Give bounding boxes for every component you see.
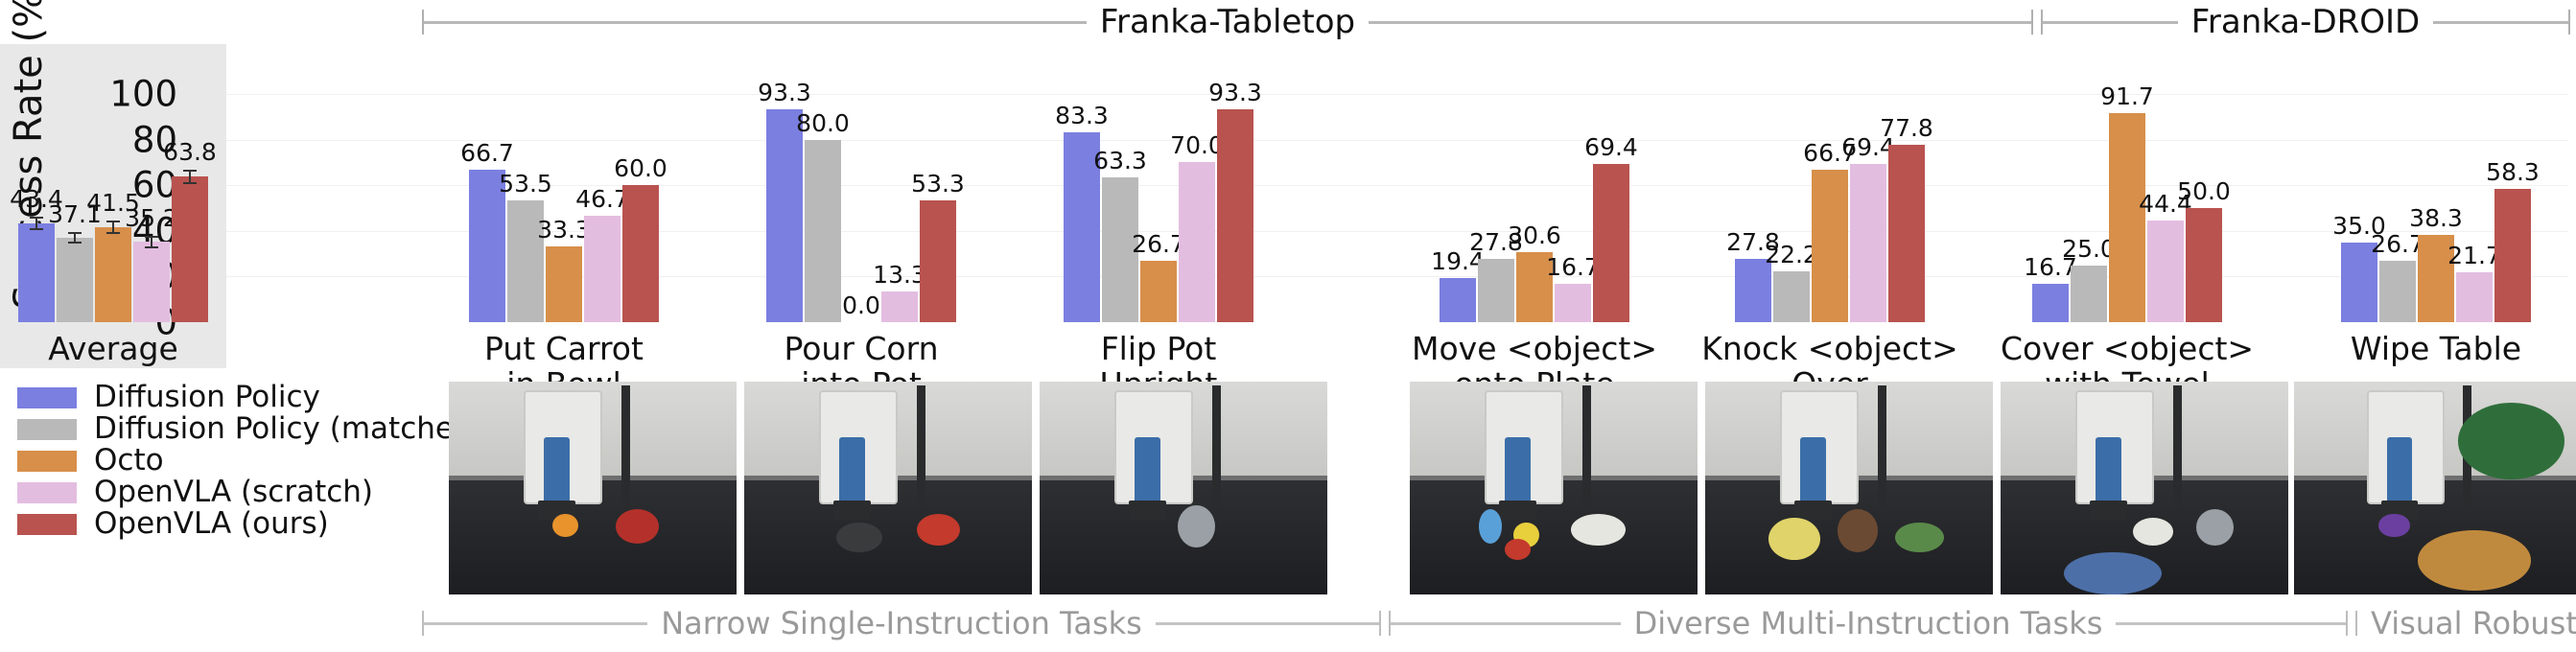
bar-value-label: 35.2	[125, 206, 178, 230]
bar-openvla-ours-[interactable]: 50.0	[2186, 94, 2222, 322]
bar-group-label-line: Pour Corn	[784, 332, 938, 367]
bar-rect	[2147, 221, 2184, 322]
bar-openvla-ours-[interactable]: 63.8	[172, 94, 208, 322]
scene-object	[2418, 530, 2531, 590]
caption-line-left	[1391, 622, 1621, 625]
bar-group-bars: 27.822.266.769.477.8	[1735, 94, 1925, 322]
bar-value-label: 26.7	[1132, 232, 1185, 256]
bar-group-label-line: Knock <object>	[1701, 332, 1957, 367]
bar-rect	[622, 185, 659, 322]
caption-cap-right	[1379, 611, 1381, 636]
pour-corn-into-pot-photo	[744, 382, 1032, 594]
error-bar	[189, 170, 191, 184]
bottom-caption-visual-robustness: Visual Robustness	[2355, 594, 2570, 652]
top-bracket-franka-tabletop: Franka-Tabletop	[422, 0, 2033, 44]
photo-content	[2294, 382, 2576, 594]
scene-robot-gripper	[1129, 501, 1166, 520]
scene-object	[1479, 509, 1502, 544]
bar-rect	[1593, 164, 1629, 322]
bar-diffusion-policy[interactable]: 66.7	[469, 94, 505, 322]
bar-value-label: 50.0	[2177, 179, 2231, 203]
scene-object	[2133, 518, 2173, 546]
caption-line-left	[424, 622, 647, 625]
bar-openvla-scratch-[interactable]: 44.4	[2147, 94, 2184, 322]
scene-robot-arm	[2096, 437, 2121, 509]
bar-rect	[766, 109, 803, 322]
bar-rect	[1850, 164, 1886, 322]
caption-label: Diverse Multi-Instruction Tasks	[1621, 608, 2117, 639]
bar-rect	[1179, 162, 1215, 322]
bar-openvla-scratch-[interactable]: 16.7	[1555, 94, 1591, 322]
bottom-caption-row: Narrow Single-Instruction TasksDiverse M…	[0, 594, 2576, 652]
bar-rect	[1555, 284, 1591, 322]
bar-octo[interactable]: 38.3	[2418, 94, 2454, 322]
bracket-line-left	[2043, 21, 2178, 24]
bar-value-label: 53.3	[911, 172, 965, 196]
scene-robot-arm	[1800, 437, 1826, 509]
scene-camera-post	[621, 385, 630, 509]
bar-group-flip-pot-upright: 83.363.326.770.093.3Flip PotUpright	[1064, 94, 1253, 322]
caption-label: Narrow Single-Instruction Tasks	[647, 608, 1156, 639]
scene-object	[2196, 509, 2234, 546]
scene-object	[2378, 514, 2409, 537]
bar-rect	[172, 176, 208, 322]
bottom-caption-narrow-single-instruction-tasks: Narrow Single-Instruction Tasks	[422, 594, 1381, 652]
bar-diffusion-policy[interactable]: 83.3	[1064, 94, 1100, 322]
bar-diffusion-policy[interactable]: 19.4	[1440, 94, 1476, 322]
bar-openvla-ours-[interactable]: 93.3	[1217, 94, 1253, 322]
bar-openvla-scratch-[interactable]: 46.7	[584, 94, 621, 322]
bar-value-label: 66.7	[460, 141, 514, 165]
bar-value-label: 53.5	[499, 172, 552, 196]
bar-openvla-scratch-[interactable]: 70.0	[1179, 94, 1215, 322]
flip-pot-upright-photo	[1040, 382, 1327, 594]
bar-group-label-line: Flip Pot	[1100, 332, 1218, 367]
bar-rect	[546, 246, 582, 322]
top-bracket-franka-droid: Franka-DROID	[2041, 0, 2570, 44]
bracket-line-right	[2433, 21, 2568, 24]
bar-group-bars: 16.725.091.744.450.0	[2032, 94, 2222, 322]
scene-object	[1895, 523, 1944, 552]
bar-openvla-scratch-[interactable]: 35.2	[133, 94, 170, 322]
bracket-cap-right	[2568, 10, 2570, 35]
caption-line-right	[2116, 622, 2346, 625]
bar-rect	[1217, 109, 1253, 322]
scene-robot-arm	[839, 437, 865, 509]
bar-diffusion-policy-matched-[interactable]: 63.3	[1102, 94, 1138, 322]
scene-object	[1571, 514, 1626, 546]
move-object-onto-plate-photo	[1410, 382, 1698, 594]
bar-diffusion-policy[interactable]: 35.0	[2341, 94, 2377, 322]
bar-rect	[920, 200, 956, 322]
scene-camera-post	[2173, 385, 2182, 509]
bar-group-wipe-table: 35.026.738.321.758.3Wipe Table	[2341, 94, 2531, 322]
bar-value-label: 16.7	[1546, 255, 1600, 279]
scene-object	[836, 523, 882, 552]
bar-value-label: 80.0	[796, 111, 850, 135]
error-bar	[35, 217, 37, 230]
bar-group-label: Average	[48, 332, 178, 367]
bar-value-label: 60.0	[614, 156, 667, 180]
bar-rect	[1140, 261, 1177, 322]
photo-content	[449, 382, 737, 594]
photo-content	[1410, 382, 1698, 594]
scene-object	[1838, 509, 1878, 551]
bar-rect	[133, 242, 170, 322]
scene-robot-gripper	[833, 501, 871, 520]
bar-rect	[1773, 271, 1810, 322]
bar-value-label: 63.8	[163, 140, 217, 164]
bar-value-label: 93.3	[1208, 81, 1262, 105]
error-bar	[112, 221, 114, 234]
bar-rect	[57, 238, 93, 322]
bracket-label: Franka-DROID	[2178, 6, 2433, 38]
bar-diffusion-policy-matched-[interactable]: 27.8	[1478, 94, 1514, 322]
bar-value-label: 93.3	[758, 81, 811, 105]
bar-openvla-ours-[interactable]: 69.4	[1593, 94, 1629, 322]
bar-rect	[805, 140, 841, 322]
bar-value-label: 22.2	[1765, 243, 1818, 267]
bar-group-cover-object-with-towel: 16.725.091.744.450.0Cover <object>with T…	[2032, 94, 2222, 322]
scene-robot-gripper	[1794, 501, 1832, 520]
bar-group-label-line: Wipe Table	[2351, 332, 2521, 367]
photo-content	[2001, 382, 2288, 594]
caption-label: Visual Robustness	[2357, 608, 2576, 639]
bar-value-label: 91.7	[2100, 84, 2154, 108]
scene-object	[2064, 552, 2162, 594]
bar-group-move-object-onto-plate: 19.427.830.616.769.4Move <object>onto Pl…	[1440, 94, 1629, 322]
bar-diffusion-policy[interactable]: 27.8	[1735, 94, 1771, 322]
bar-group-bars: 19.427.830.616.769.4	[1440, 94, 1629, 322]
bracket-line-right	[1369, 21, 2031, 24]
bar-rect	[1478, 259, 1514, 322]
scene-robot-arm	[1135, 437, 1160, 509]
bar-diffusion-policy-matched-[interactable]: 22.2	[1773, 94, 1810, 322]
bar-octo[interactable]: 30.6	[1516, 94, 1553, 322]
bar-diffusion-policy-matched-[interactable]: 25.0	[2071, 94, 2107, 322]
bar-openvla-scratch-[interactable]: 13.3	[881, 94, 918, 322]
bar-value-label: 21.7	[2447, 244, 2501, 268]
bar-group-bars: 93.380.00.013.353.3	[766, 94, 956, 322]
bracket-label: Franka-Tabletop	[1087, 6, 1369, 38]
bar-rect	[1812, 170, 1848, 322]
bar-octo[interactable]: 66.7	[1812, 94, 1848, 322]
bar-value-label: 58.3	[2486, 160, 2540, 184]
bar-group-label-line: Cover <object>	[2001, 332, 2254, 367]
scene-object	[2458, 403, 2565, 479]
bar-group-bars: 43.437.141.535.263.8	[18, 94, 208, 322]
bar-rect	[2071, 266, 2107, 323]
bar-chart: Success Rate (%) 020406080100 43.437.141…	[0, 44, 2576, 370]
bar-rect	[18, 223, 55, 322]
bar-group-put-carrot-in-bowl: 66.753.533.346.760.0Put Carrotin Bowl	[469, 94, 659, 322]
bar-octo[interactable]: 26.7	[1140, 94, 1177, 322]
top-bracket-row: Franka-TabletopFranka-DROID	[0, 0, 2576, 44]
scene-camera-post	[917, 385, 925, 509]
bar-group-label-line: Put Carrot	[484, 332, 644, 367]
bar-rect	[1440, 278, 1476, 322]
bar-rect	[2186, 208, 2222, 322]
scene-camera-post	[1878, 385, 1886, 509]
bar-group-knock-object-over: 27.822.266.769.477.8Knock <object>Over	[1735, 94, 1925, 322]
bar-openvla-ours-[interactable]: 60.0	[622, 94, 659, 322]
bar-diffusion-policy-matched-[interactable]: 80.0	[805, 94, 841, 322]
bar-value-label: 77.8	[1880, 116, 1933, 140]
bar-group-label-line: Average	[48, 332, 178, 367]
scene-object	[552, 514, 578, 537]
scene-camera-post	[1582, 385, 1591, 509]
bar-value-label: 63.3	[1093, 149, 1147, 173]
bar-diffusion-policy[interactable]: 16.7	[2032, 94, 2069, 322]
bar-rect	[881, 291, 918, 322]
bar-group-label-line: Move <object>	[1412, 332, 1657, 367]
bar-value-label: 26.7	[2371, 232, 2424, 256]
bracket-line-left	[424, 21, 1087, 24]
scene-object	[1178, 505, 1215, 547]
caption-line-right	[1156, 622, 1379, 625]
bar-rect	[2379, 261, 2416, 322]
bar-openvla-ours-[interactable]: 77.8	[1888, 94, 1925, 322]
bar-openvla-ours-[interactable]: 53.3	[920, 94, 956, 322]
scene-camera-post	[1212, 385, 1221, 509]
bar-value-label: 83.3	[1055, 104, 1109, 128]
bar-value-label: 69.4	[1584, 135, 1638, 159]
bar-rect	[95, 227, 131, 322]
knock-object-over-photo	[1705, 382, 1993, 594]
scene-object	[616, 509, 659, 544]
bar-value-label: 30.6	[1508, 223, 1561, 247]
photo-content	[1040, 382, 1327, 594]
bar-rect	[584, 216, 621, 322]
error-bar	[151, 236, 152, 248]
bar-rect	[2494, 189, 2531, 322]
bar-value-label: 70.0	[1170, 133, 1224, 157]
bar-group-label: Wipe Table	[2351, 332, 2521, 367]
wipe-table-photo	[2294, 382, 2576, 594]
bar-rect	[2032, 284, 2069, 322]
bar-value-label: 38.3	[2409, 206, 2463, 230]
photo-content	[744, 382, 1032, 594]
bar-rect	[1888, 145, 1925, 322]
bar-value-label: 33.3	[537, 218, 591, 242]
bar-group-bars: 66.753.533.346.760.0	[469, 94, 659, 322]
bar-openvla-ours-[interactable]: 58.3	[2494, 94, 2531, 322]
photo-strip	[0, 382, 2576, 594]
bar-group-bars: 83.363.326.770.093.3	[1064, 94, 1253, 322]
error-bar	[74, 232, 76, 244]
bar-diffusion-policy-matched-[interactable]: 53.5	[507, 94, 544, 322]
cover-object-with-towel-photo	[2001, 382, 2288, 594]
scene-object	[917, 514, 960, 546]
bar-value-label: 0.0	[842, 293, 880, 317]
scene-robot-gripper	[2090, 501, 2127, 520]
scene-robot-arm	[544, 437, 570, 509]
bar-value-label: 13.3	[873, 263, 926, 287]
bar-value-label: 25.0	[2062, 237, 2116, 261]
photo-content	[1705, 382, 1993, 594]
bottom-caption-diverse-multi-instruction-tasks: Diverse Multi-Instruction Tasks	[1389, 594, 2348, 652]
caption-cap-right	[2346, 611, 2348, 636]
bracket-cap-right	[2031, 10, 2033, 35]
put-carrot-in-bowl-photo	[449, 382, 737, 594]
bar-group-bars: 35.026.738.321.758.3	[2341, 94, 2531, 322]
scene-robot-gripper	[1499, 501, 1536, 520]
bar-value-label: 46.7	[575, 187, 629, 211]
bar-rect	[2456, 272, 2493, 322]
scene-robot-arm	[1505, 437, 1531, 509]
scene-robot-arm	[2387, 437, 2412, 509]
bar-group-average: 43.437.141.535.263.8Average	[18, 94, 208, 322]
bar-openvla-scratch-[interactable]: 21.7	[2456, 94, 2493, 322]
bar-group-pour-corn-into-pot: 93.380.00.013.353.3Pour Corninto Pot	[766, 94, 956, 322]
